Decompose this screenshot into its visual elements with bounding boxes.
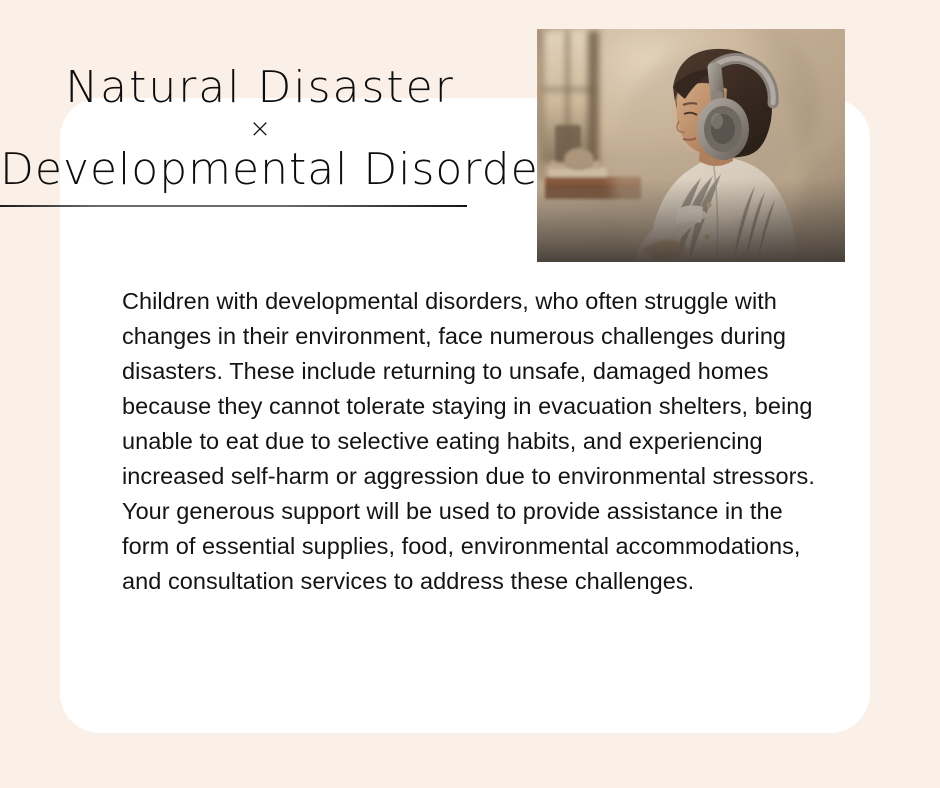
body-paragraph-2: Your generous support will be used to pr… [122, 494, 822, 599]
page-title-line-1: Natural Disaster [0, 62, 520, 114]
hero-photo-illustration [537, 29, 845, 262]
slide-canvas: Natural Disaster × Developmental Disorde… [0, 0, 940, 788]
body-copy: Children with developmental disorders, w… [122, 284, 822, 599]
title-underline-rule [0, 205, 467, 207]
title-block: Natural Disaster × Developmental Disorde… [0, 62, 520, 196]
title-cross-symbol: × [0, 114, 520, 144]
page-title-line-2: Developmental Disorders [0, 144, 520, 196]
hero-photo-child-with-headphones [537, 29, 845, 262]
body-paragraph-1: Children with developmental disorders, w… [122, 284, 822, 494]
